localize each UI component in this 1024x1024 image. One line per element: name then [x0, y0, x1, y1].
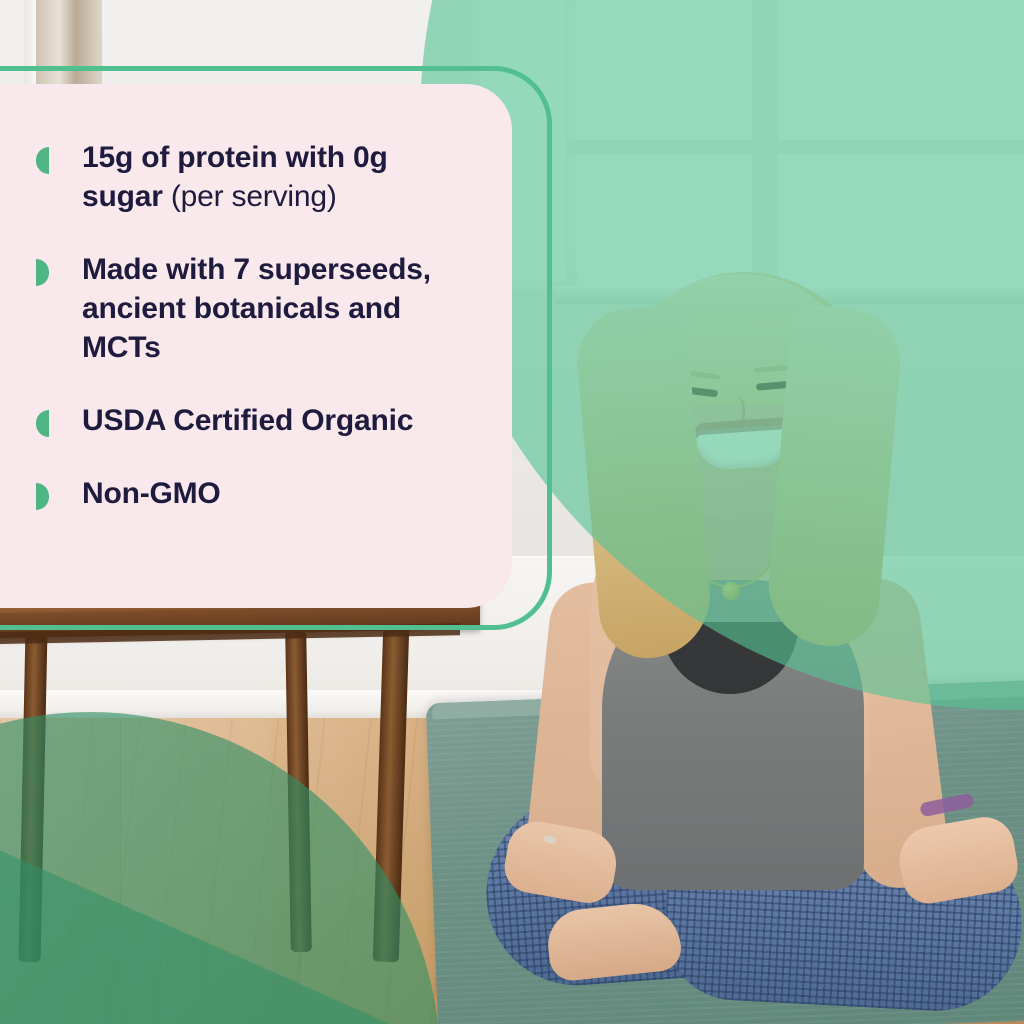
- bullet-text: Non-GMO: [82, 474, 456, 513]
- bullet-text-bold: Made with 7 superseeds, ancient botanica…: [82, 253, 431, 364]
- half-circle-bullet-icon: [36, 410, 49, 437]
- benefits-callout-card: 15g of protein with 0g sugar (per servin…: [0, 84, 512, 608]
- bullet-text: 15g of protein with 0g sugar (per servin…: [82, 138, 456, 216]
- half-circle-bullet-icon: [36, 483, 49, 510]
- bullet-text-bold: USDA Certified Organic: [82, 404, 413, 437]
- bullet-text-regular: (per serving): [163, 180, 337, 213]
- list-item: Made with 7 superseeds, ancient botanica…: [32, 250, 456, 367]
- half-circle-bullet-icon: [36, 259, 49, 286]
- bullet-text-bold: Non-GMO: [82, 477, 221, 510]
- list-item: USDA Certified Organic: [32, 401, 456, 440]
- benefits-list: 15g of protein with 0g sugar (per servin…: [32, 138, 456, 513]
- bullet-text: USDA Certified Organic: [82, 401, 456, 440]
- list-item: Non-GMO: [32, 474, 456, 513]
- list-item: 15g of protein with 0g sugar (per servin…: [32, 138, 456, 216]
- promo-graphic: 15g of protein with 0g sugar (per servin…: [0, 0, 1024, 1024]
- bullet-text: Made with 7 superseeds, ancient botanica…: [82, 250, 456, 367]
- half-circle-bullet-icon: [36, 147, 49, 174]
